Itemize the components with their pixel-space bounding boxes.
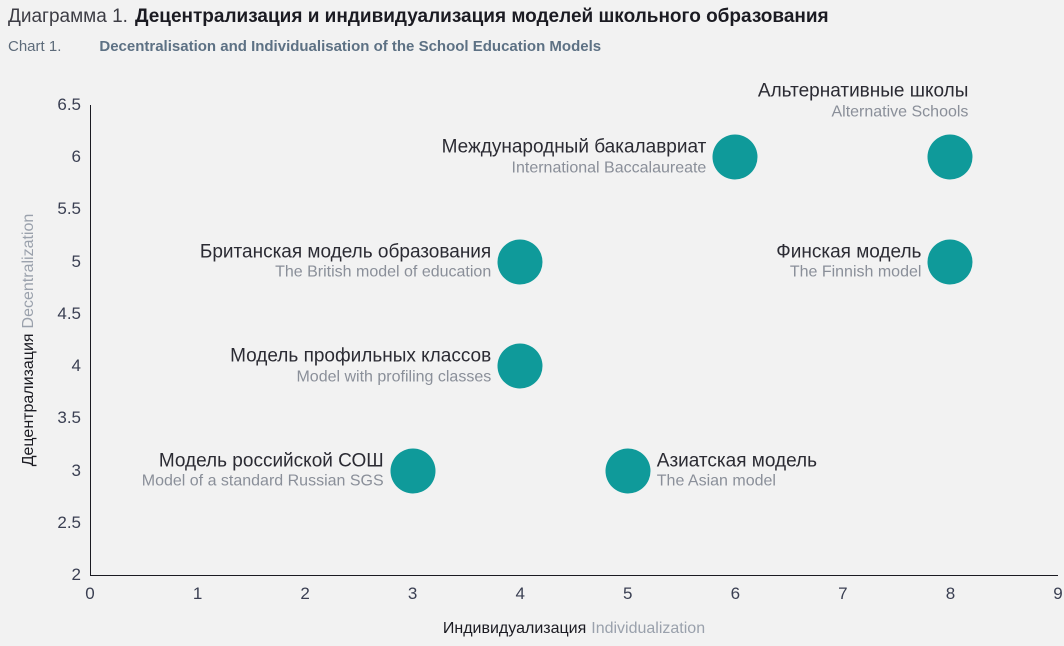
data-point-label-en: The Asian model <box>657 472 817 491</box>
data-point-label: Азиатская модельThe Asian model <box>657 450 817 491</box>
y-axis-title-en: Decentralization <box>20 214 37 329</box>
y-axis-tick-label: 5.5 <box>57 199 81 219</box>
data-point-label: Модель российской СОШModel of a standard… <box>142 450 384 491</box>
data-point-label-ru: Модель профильных классов <box>230 345 491 367</box>
data-point-label: Международный бакалавриатInternational B… <box>442 137 707 178</box>
x-axis-title-en: Individualization <box>591 620 705 637</box>
y-axis-tick-label: 5 <box>72 252 81 272</box>
data-point-label-en: International Baccalaureate <box>442 159 707 178</box>
data-point-label: Британская модель образованияThe British… <box>200 241 491 282</box>
data-point-label-ru: Международный бакалавриат <box>442 137 707 159</box>
x-axis-tick-label: 9 <box>1053 584 1062 604</box>
x-axis-tick-label: 6 <box>731 584 740 604</box>
plot-area: 22.533.544.555.566.50123456789Альтернати… <box>90 105 1058 575</box>
x-axis-tick-label: 3 <box>408 584 417 604</box>
data-point-label-ru: Финская модель <box>776 241 921 263</box>
x-axis-title: ИндивидуализацияIndividualization <box>90 620 1058 638</box>
y-axis-tick-label: 4.5 <box>57 304 81 324</box>
y-axis-tick-label: 4 <box>72 356 81 376</box>
x-axis-tick-label: 0 <box>85 584 94 604</box>
data-point-label-en: Model with profiling classes <box>230 368 491 387</box>
data-point-bubble[interactable] <box>498 239 543 284</box>
x-axis-title-ru: Индивидуализация <box>443 620 586 637</box>
y-axis-tick-label: 2 <box>72 565 81 585</box>
data-point-label-en: The British model of education <box>200 263 491 282</box>
x-axis-tick-label: 2 <box>300 584 309 604</box>
y-axis-tick-label: 6 <box>72 147 81 167</box>
y-axis-tick-label: 3 <box>72 461 81 481</box>
data-point-bubble[interactable] <box>928 239 973 284</box>
x-axis-tick-label: 8 <box>946 584 955 604</box>
data-point-label: Финская модельThe Finnish model <box>776 241 921 282</box>
data-point-label: Альтернативные школыAlternative Schools <box>758 81 969 122</box>
data-point-label-ru: Альтернативные школы <box>758 81 969 103</box>
data-point-label-ru: Модель российской СОШ <box>142 450 384 472</box>
data-point-bubble[interactable] <box>390 448 435 493</box>
y-axis-tick-label: 2.5 <box>57 513 81 533</box>
x-axis-tick-label: 1 <box>193 584 202 604</box>
x-axis-tick-label: 7 <box>838 584 847 604</box>
x-axis-tick-label: 4 <box>515 584 524 604</box>
data-point-label-ru: Британская модель образования <box>200 241 491 263</box>
data-point-label-en: Alternative Schools <box>758 103 969 122</box>
data-point-bubble[interactable] <box>928 135 973 180</box>
data-point-label-en: The Finnish model <box>776 263 921 282</box>
y-axis-title: ДецентрализацияDecentralization <box>20 105 48 575</box>
data-point-label-ru: Азиатская модель <box>657 450 817 472</box>
y-axis-title-ru: Децентрализация <box>20 333 37 466</box>
data-point-label-en: Model of a standard Russian SGS <box>142 472 384 491</box>
x-axis-line <box>90 575 1058 576</box>
y-axis-tick-label: 6.5 <box>57 95 81 115</box>
data-point-bubble[interactable] <box>498 344 543 389</box>
y-axis-tick-label: 3.5 <box>57 408 81 428</box>
scatter-chart: 22.533.544.555.566.50123456789Альтернати… <box>0 0 1064 646</box>
x-axis-tick-label: 5 <box>623 584 632 604</box>
data-point-label: Модель профильных классовModel with prof… <box>230 345 491 386</box>
data-point-bubble[interactable] <box>605 448 650 493</box>
data-point-bubble[interactable] <box>713 135 758 180</box>
